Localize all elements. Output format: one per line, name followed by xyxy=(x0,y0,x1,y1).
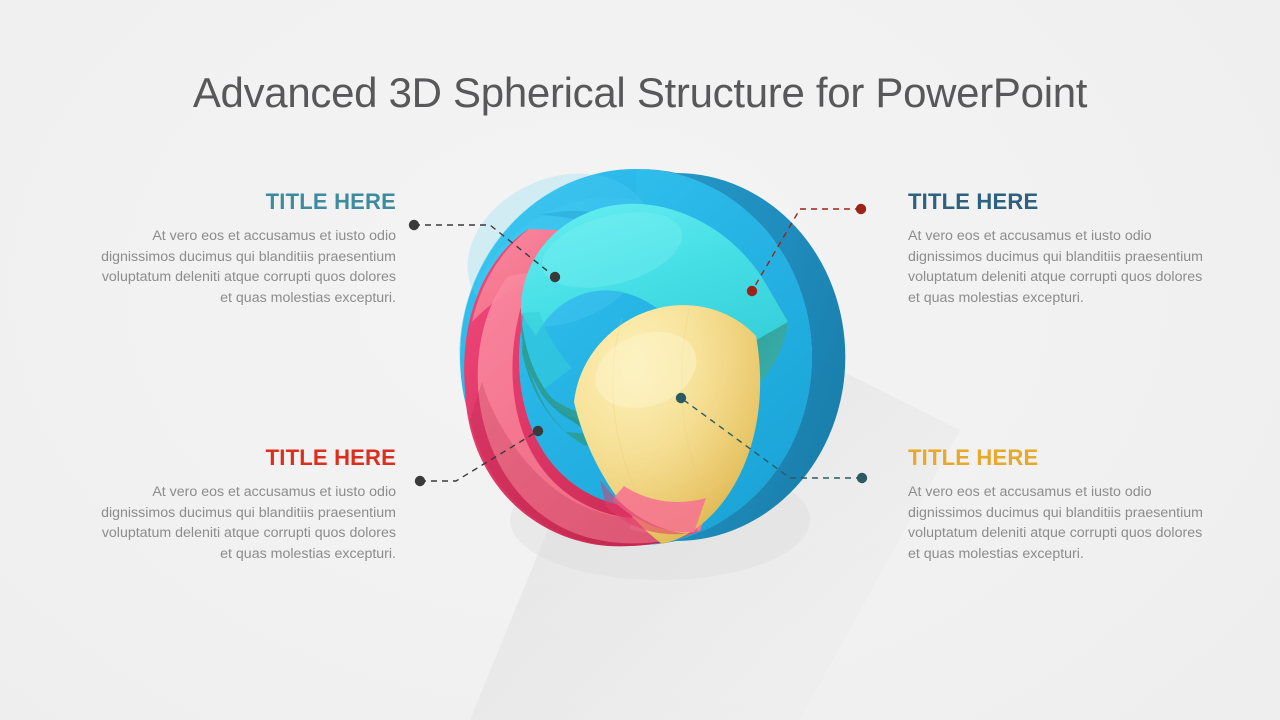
connector-dot-outer xyxy=(415,476,425,486)
info-block-body: At vero eos et accusamus et iusto odio d… xyxy=(908,482,1204,564)
connector-dot-outer xyxy=(856,204,866,214)
connector-bottom-left xyxy=(415,426,543,486)
info-block-title: TITLE HERE xyxy=(100,190,396,214)
info-block-body: At vero eos et accusamus et iusto odio d… xyxy=(100,482,396,564)
info-block-title: TITLE HERE xyxy=(100,446,396,470)
connector-top-right xyxy=(747,204,866,296)
info-block-bottom-right: TITLE HERE At vero eos et accusamus et i… xyxy=(908,446,1204,564)
connector-bottom-right xyxy=(676,393,867,483)
page-title: Advanced 3D Spherical Structure for Powe… xyxy=(0,68,1280,118)
slide-canvas: Advanced 3D Spherical Structure for Powe… xyxy=(0,0,1280,720)
connector-dot-outer xyxy=(857,473,867,483)
info-block-top-right: TITLE HERE At vero eos et accusamus et i… xyxy=(908,190,1204,308)
info-block-body: At vero eos et accusamus et iusto odio d… xyxy=(100,226,396,308)
connector-dot-outer xyxy=(409,220,419,230)
connector-dot-inner xyxy=(550,272,560,282)
info-block-top-left: TITLE HERE At vero eos et accusamus et i… xyxy=(100,190,396,308)
info-block-bottom-left: TITLE HERE At vero eos et accusamus et i… xyxy=(100,446,396,564)
connector-top-left xyxy=(409,220,560,282)
info-block-title: TITLE HERE xyxy=(908,190,1204,214)
connector-dot-inner xyxy=(533,426,543,436)
info-block-title: TITLE HERE xyxy=(908,446,1204,470)
connector-dot-inner xyxy=(676,393,686,403)
connector-dot-inner xyxy=(747,286,757,296)
info-block-body: At vero eos et accusamus et iusto odio d… xyxy=(908,226,1204,308)
